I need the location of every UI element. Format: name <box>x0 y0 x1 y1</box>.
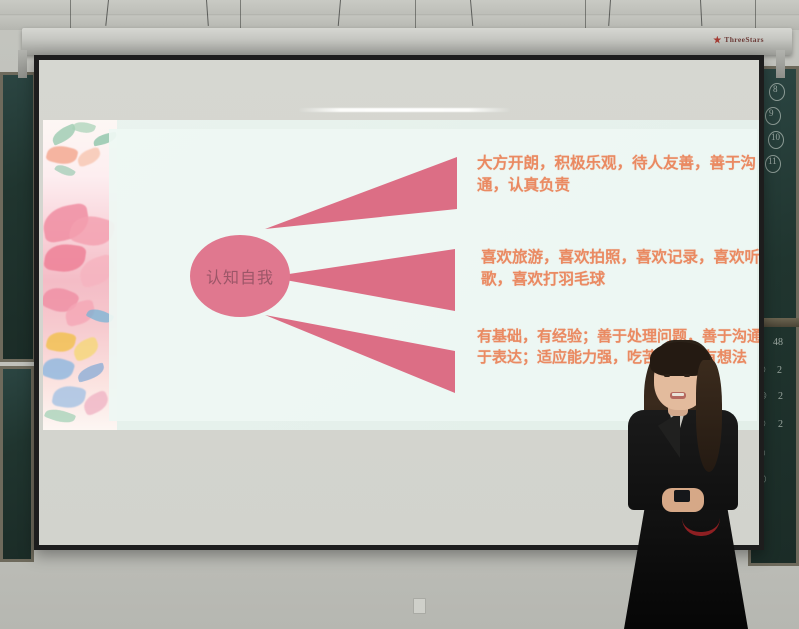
center-hub-label: 认知自我 <box>206 264 274 288</box>
watercolor-floral-border <box>43 120 117 430</box>
classroom-scene: 8 9 10 11 ① 48 ② 2 ③ 2 ④ 2 ⑤ ⑥ ThreeStar… <box>0 0 799 629</box>
threestars-logo: ThreeStars <box>713 35 764 44</box>
screen-roller-housing[interactable]: ThreeStars <box>22 28 792 55</box>
ray-shape-2 <box>269 249 455 313</box>
ceiling-panels <box>0 0 799 30</box>
presenter <box>600 330 768 629</box>
star-icon <box>713 36 721 44</box>
ceiling-light-reflection <box>298 108 511 112</box>
blackboard-panel-lower <box>0 366 34 562</box>
presenter-hair-side <box>696 360 722 472</box>
presenter-eye-right <box>684 374 690 377</box>
ray-shape-3 <box>265 315 455 393</box>
roller-bracket-right <box>776 50 785 78</box>
slide-bullet-1: 大方开朗，积极乐观，待人友善，善于沟通，认真负责 <box>477 153 759 197</box>
presenter-teeth <box>672 393 684 396</box>
center-hub: 认知自我 <box>190 235 290 317</box>
slide-bullet-2: 喜欢旅游，喜欢拍照，喜欢记录，喜欢听歌，喜欢打羽毛球 <box>481 247 759 291</box>
presenter-eye-left <box>664 374 670 377</box>
wall-socket[interactable] <box>413 598 426 614</box>
ray-shape-1 <box>265 157 457 229</box>
blackboard-panel-upper <box>0 72 36 362</box>
chalk-list-value-2: 2 <box>778 391 783 402</box>
roller-bracket-left <box>18 50 27 78</box>
presentation-clicker[interactable] <box>674 490 690 502</box>
brand-label: ThreeStars <box>724 35 764 44</box>
chalk-list-value-1: 2 <box>777 365 782 376</box>
chalk-list-value-3: 2 <box>778 419 783 430</box>
chalk-list-value-0: 48 <box>773 337 783 348</box>
